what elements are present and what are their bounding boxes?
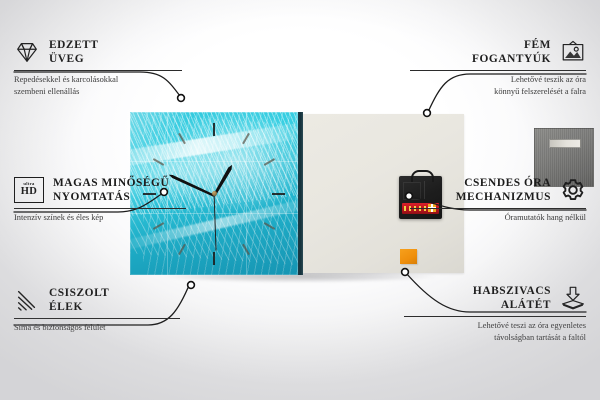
callout-subtitle: Óramutatók hang nélkül	[410, 212, 586, 224]
ultra-hd-icon: ultra HD	[14, 177, 44, 203]
callout-rule	[404, 316, 586, 317]
foam-pad-icon	[560, 285, 586, 311]
hanger-slot	[549, 139, 581, 148]
polished-edges-icon	[14, 287, 40, 313]
callout-subtitle: Repedésekkel és karcolásokkal szembeni e…	[14, 74, 182, 98]
callout-rule	[14, 70, 182, 71]
glass-edge	[298, 112, 303, 275]
callout-polished-edges[interactable]: CSISZOLT ÉLEK Sima és biztonságos felüle…	[14, 286, 180, 334]
gear-icon	[560, 177, 586, 203]
callout-title: FÉM FOGANTYÚK	[472, 38, 551, 66]
infographic-canvas: EDZETT ÜVEG Repedésekkel és karcolásokka…	[0, 0, 600, 400]
callout-title: EDZETT ÜVEG	[49, 38, 99, 66]
callout-rule	[14, 318, 180, 319]
callout-high-quality-print[interactable]: ultra HD MAGAS MINŐSÉGŰ NYOMTATÁS Intenz…	[14, 176, 186, 224]
callout-subtitle: Intenzív színek és éles kép	[14, 212, 186, 224]
callout-subtitle: Lehetővé teszi az óra egyenletes távolsá…	[404, 320, 586, 344]
hands-center-cap	[212, 191, 217, 196]
foam-pad-sample	[400, 249, 417, 264]
callout-subtitle: Sima és biztonságos felület	[14, 322, 180, 334]
callout-title: CSENDES ÓRA MECHANIZMUS	[456, 176, 551, 204]
callout-rule	[410, 208, 586, 209]
callout-tempered-glass[interactable]: EDZETT ÜVEG Repedésekkel és karcolásokka…	[14, 38, 182, 98]
callout-title: HABSZIVACS ALÁTÉT	[473, 284, 551, 312]
callout-subtitle: Lehetővé teszik az óra könnyű felszerelé…	[410, 74, 586, 98]
callout-metal-handles[interactable]: FÉM FOGANTYÚK Lehetővé teszik az óra kön…	[410, 38, 586, 98]
picture-hanger-icon	[560, 39, 586, 65]
callout-rule	[410, 70, 586, 71]
ultra-hd-icon-big-label: HD	[21, 187, 38, 198]
diamond-icon	[14, 39, 40, 65]
callout-foam-pad[interactable]: HABSZIVACS ALÁTÉT Lehetővé teszi az óra …	[404, 284, 586, 344]
callout-silent-mechanism[interactable]: CSENDES ÓRA MECHANIZMUS Óramutatók hang …	[410, 176, 586, 224]
callout-title: MAGAS MINŐSÉGŰ NYOMTATÁS	[53, 176, 169, 204]
callout-title: CSISZOLT ÉLEK	[49, 286, 109, 314]
callout-rule	[14, 208, 186, 209]
